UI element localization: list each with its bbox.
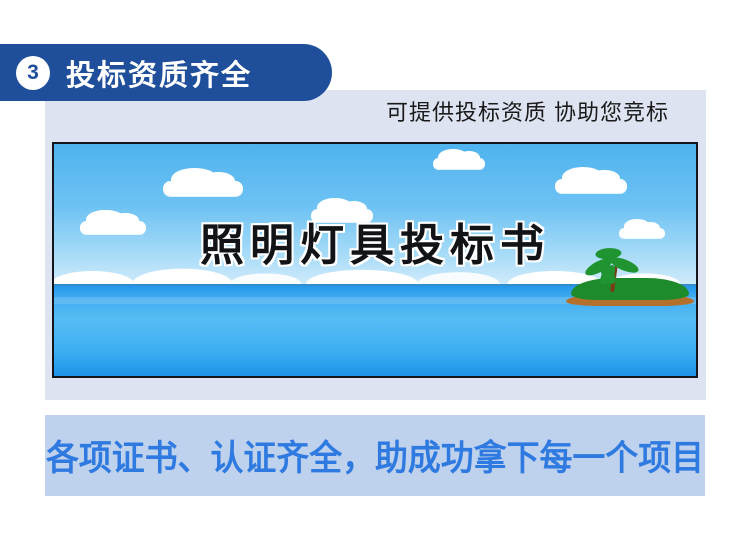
image-headline-text: 照明灯具投标书 bbox=[54, 209, 696, 273]
section-header-banner: 3 投标资质齐全 bbox=[0, 44, 332, 101]
step-number-badge: 3 bbox=[16, 56, 50, 90]
bottom-highlight-text: 各项证书、认证齐全，助成功拿下每一个项目 bbox=[46, 430, 704, 481]
cloud-icon bbox=[163, 181, 243, 196]
bid-document-cover-image: 照明灯具投标书 bbox=[52, 142, 698, 378]
island-illustration bbox=[566, 272, 694, 306]
island-grass bbox=[571, 278, 689, 300]
cloud-icon bbox=[433, 158, 485, 169]
cloud-icon bbox=[555, 179, 627, 193]
section-title: 投标资质齐全 bbox=[66, 52, 252, 94]
section-subtitle: 可提供投标资质 协助您竞标 bbox=[360, 95, 695, 127]
bottom-highlight-panel: 各项证书、认证齐全，助成功拿下每一个项目 bbox=[45, 415, 705, 496]
